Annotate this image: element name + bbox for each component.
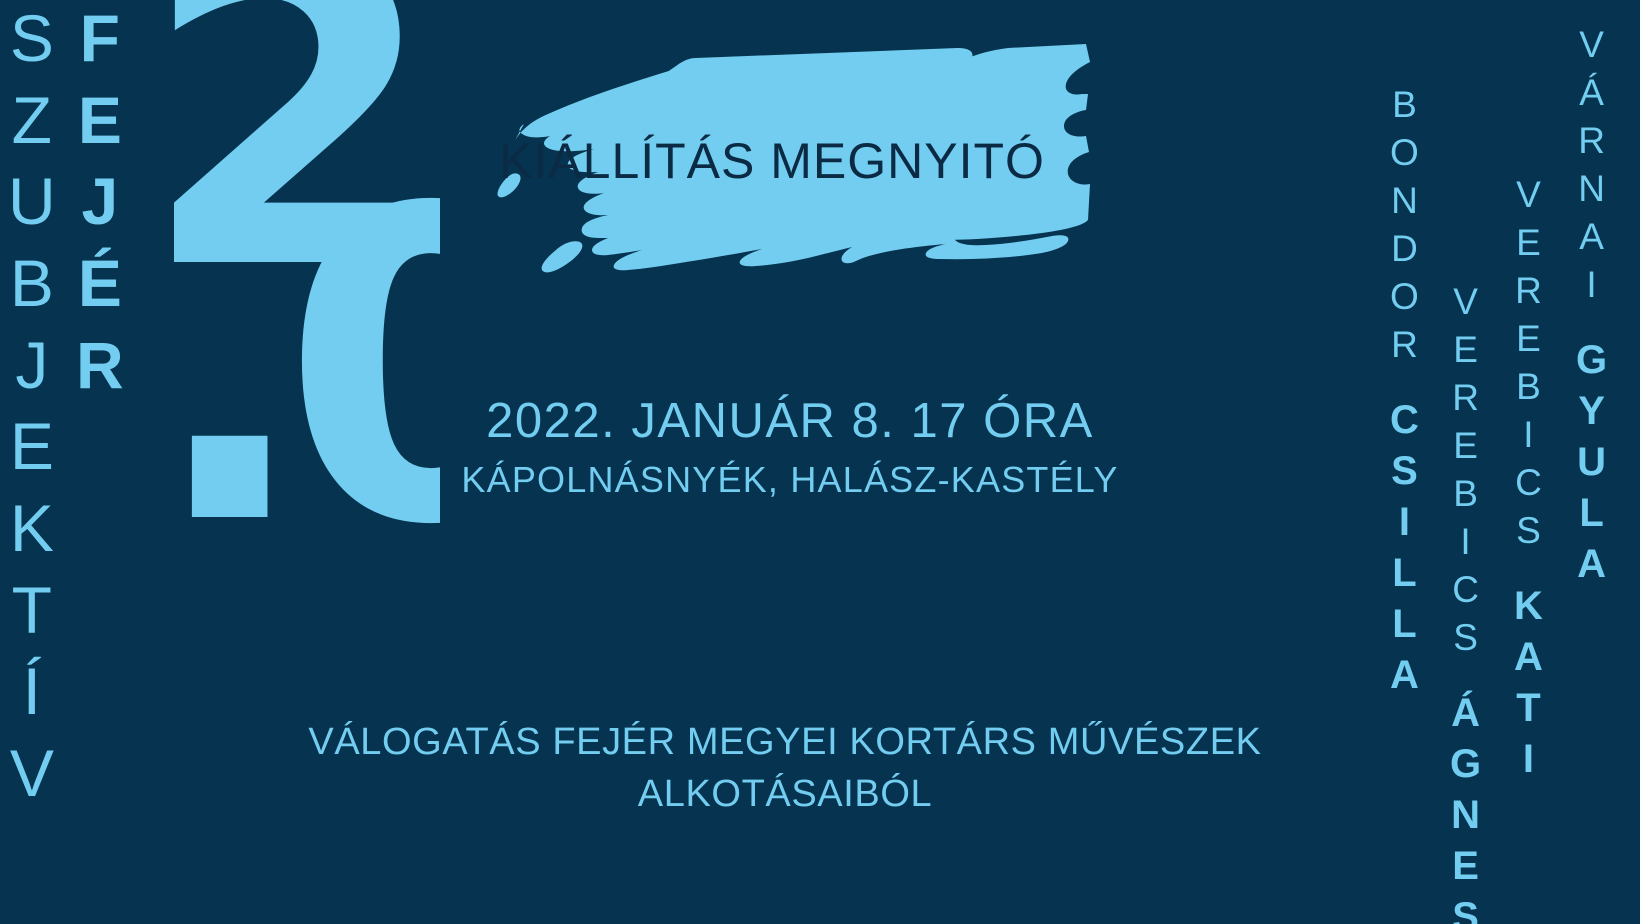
- description-line-1: VÁLOGATÁS FEJÉR MEGYEI KORTÁRS MŰVÉSZEK: [270, 716, 1300, 768]
- fejer-letter-4: R: [76, 333, 124, 398]
- surname-letter-4: B: [1516, 368, 1541, 405]
- banner-title-text: KIÁLLÍTÁS MEGNYITÓ: [452, 132, 1092, 190]
- surname-letter-3: N: [1578, 170, 1605, 207]
- vertical-wordmark-szubjektiv: SZUBJEKTÍV: [8, 6, 56, 823]
- given-letter-2: N: [1451, 795, 1480, 835]
- szubjektiv-letter-9: V: [10, 741, 54, 806]
- surname-letter-5: I: [1523, 416, 1533, 453]
- surname-letter-6: C: [1515, 464, 1542, 501]
- given-letter-4: A: [1577, 544, 1606, 584]
- title-banner: KIÁLLÍTÁS MEGNYITÓ: [452, 24, 1092, 274]
- given-letter-3: I: [1523, 739, 1534, 779]
- szubjektiv-letter-0: S: [10, 6, 54, 71]
- surname-letter-2: R: [1515, 272, 1542, 309]
- surname-letter-4: B: [1453, 475, 1478, 512]
- given-letter-0: Á: [1451, 693, 1480, 733]
- surname-letter-1: Á: [1579, 74, 1604, 111]
- artist-given-name: KATI: [1514, 586, 1543, 790]
- artist-given-name: GYULA: [1576, 340, 1607, 595]
- artist-given-name: CSILLA: [1390, 400, 1419, 706]
- surname-letter-0: V: [1453, 283, 1478, 320]
- surname-letter-0: V: [1579, 26, 1604, 63]
- surname-letter-6: C: [1452, 571, 1479, 608]
- surname-letter-1: O: [1390, 134, 1419, 171]
- artist-name-verebics-agnes: VEREBICSÁGNES: [1450, 283, 1481, 924]
- fejer-letter-1: E: [78, 88, 122, 153]
- given-letter-2: U: [1577, 442, 1606, 482]
- numeral-two: 2: [140, 0, 409, 265]
- szubjektiv-letter-3: B: [10, 251, 54, 316]
- surname-letter-2: R: [1578, 122, 1605, 159]
- artist-given-name: ÁGNES: [1450, 693, 1481, 924]
- fejer-letter-2: J: [81, 169, 118, 234]
- surname-letter-0: V: [1516, 176, 1541, 213]
- fejer-letter-0: F: [80, 6, 120, 71]
- surname-letter-3: D: [1391, 230, 1418, 267]
- given-letter-1: G: [1450, 744, 1481, 784]
- surname-letter-2: N: [1391, 182, 1418, 219]
- surname-letter-5: I: [1460, 523, 1470, 560]
- given-letter-1: Y: [1578, 391, 1605, 431]
- szubjektiv-letter-7: T: [12, 578, 52, 643]
- artist-surname: VEREBICS: [1515, 176, 1542, 560]
- vertical-wordmark-fejer: FEJÉR: [76, 6, 124, 414]
- szubjektiv-letter-5: E: [10, 414, 54, 479]
- surname-letter-4: A: [1579, 218, 1604, 255]
- description-line-2: ALKOTÁSAIBÓL: [270, 768, 1300, 820]
- artist-name-varnai-gyula: VÁRNAIGYULA: [1576, 26, 1607, 595]
- surname-letter-3: E: [1453, 427, 1478, 464]
- given-letter-2: T: [1516, 688, 1540, 728]
- given-letter-4: L: [1392, 604, 1416, 644]
- surname-letter-5: R: [1391, 326, 1418, 363]
- poster-canvas: 2 .0 SZUBJEKTÍV FEJÉR KIÁLLÍTÁS MEGNYITÓ…: [0, 0, 1640, 924]
- given-letter-3: L: [1579, 493, 1603, 533]
- event-date: 2022. JANUÁR 8. 17 ÓRA: [300, 396, 1280, 447]
- surname-letter-3: E: [1516, 320, 1541, 357]
- szubjektiv-letter-8: Í: [23, 659, 41, 724]
- surname-letter-7: S: [1516, 512, 1541, 549]
- given-letter-0: C: [1390, 400, 1419, 440]
- szubjektiv-letter-1: Z: [12, 88, 52, 153]
- given-letter-3: E: [1452, 846, 1479, 886]
- surname-letter-2: R: [1452, 379, 1479, 416]
- artist-surname: VÁRNAI: [1578, 26, 1605, 314]
- given-letter-3: L: [1392, 553, 1416, 593]
- artist-name-verebics-kati: VEREBICSKATI: [1514, 176, 1543, 790]
- artist-name-bondor-csilla: BONDORCSILLA: [1390, 86, 1419, 706]
- given-letter-0: K: [1514, 586, 1543, 626]
- event-info-block: 2022. JANUÁR 8. 17 ÓRA KÁPOLNÁSNYÉK, HAL…: [300, 396, 1280, 501]
- given-letter-1: A: [1514, 637, 1543, 677]
- artist-surname: VEREBICS: [1452, 283, 1479, 667]
- szubjektiv-letter-4: J: [15, 333, 48, 398]
- surname-letter-1: E: [1453, 331, 1478, 368]
- fejer-letter-3: É: [78, 251, 122, 316]
- given-letter-5: A: [1390, 655, 1419, 695]
- surname-letter-7: S: [1453, 619, 1478, 656]
- given-letter-2: I: [1399, 502, 1410, 542]
- szubjektiv-letter-2: U: [8, 169, 56, 234]
- surname-letter-4: O: [1390, 278, 1419, 315]
- surname-letter-5: I: [1586, 266, 1596, 303]
- given-letter-1: S: [1391, 451, 1418, 491]
- exhibition-description: VÁLOGATÁS FEJÉR MEGYEI KORTÁRS MŰVÉSZEK …: [270, 716, 1300, 821]
- szubjektiv-letter-6: K: [10, 496, 54, 561]
- artist-surname: BONDOR: [1390, 86, 1419, 374]
- surname-letter-0: B: [1392, 86, 1417, 123]
- event-venue: KÁPOLNÁSNYÉK, HALÁSZ-KASTÉLY: [300, 459, 1280, 501]
- given-letter-0: G: [1576, 340, 1607, 380]
- given-letter-4: S: [1452, 897, 1479, 924]
- surname-letter-1: E: [1516, 224, 1541, 261]
